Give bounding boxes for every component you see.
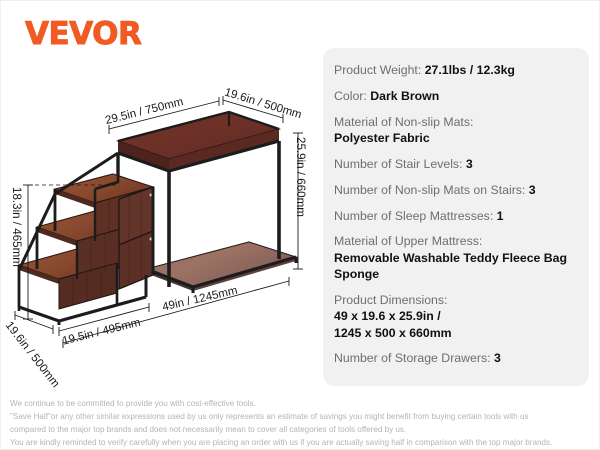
spec-label: Product Weight: — [334, 63, 421, 77]
spec-value: 3 — [494, 351, 501, 365]
spec-label: Number of Stair Levels: — [334, 157, 463, 171]
spec-row-sleep-mattresses: Number of Sleep Mattresses: 1 — [333, 208, 579, 224]
dim-label-right-height: 25.9in / 660mm — [294, 137, 307, 217]
spec-label: Material of Upper Mattress: — [334, 234, 482, 248]
spec-label: Number of Sleep Mattresses: — [334, 209, 493, 223]
footer-line: "Save Half"or any other similar expressi… — [10, 410, 596, 423]
footer-line: You are kindly reminded to verify carefu… — [10, 436, 596, 449]
spec-value: Removable Washable Teddy Fleece Bag Spon… — [334, 250, 579, 283]
spec-label: Number of Non-slip Mats on Stairs: — [334, 183, 525, 197]
spec-label: Material of Non-slip Mats: — [334, 115, 473, 129]
vevor-logo: VEVOR — [25, 19, 141, 50]
spec-value: 27.1lbs / 12.3kg — [425, 63, 515, 77]
drawer-column — [119, 187, 153, 289]
spec-label: Color: — [334, 89, 367, 103]
footer-line: compared to the major top brands and doe… — [10, 423, 596, 436]
product-illustration: 29.5in / 750mm 19.6in / 500mm 25.9in / 6… — [1, 79, 321, 349]
spec-value: 3 — [466, 157, 473, 171]
product-spec-image: VEVOR — [0, 0, 600, 450]
spec-row-product-dimensions: Product Dimensions: 49 x 19.6 x 25.9in /… — [333, 292, 579, 341]
dim-label-left-height: 18.3in / 465mm — [10, 187, 23, 267]
footer-disclaimer: We continue to be committed to provide y… — [10, 397, 596, 449]
spec-value: 3 — [529, 183, 536, 197]
footer-line: We continue to be committed to provide y… — [10, 397, 596, 410]
spec-value: Dark Brown — [370, 89, 439, 103]
spec-row-storage-drawers: Number of Storage Drawers: 3 — [333, 350, 579, 366]
spec-row-material-upper-mattress: Material of Upper Mattress: Removable Wa… — [333, 233, 579, 282]
spec-row-non-slip-mats-on-stairs: Number of Non-slip Mats on Stairs: 3 — [333, 182, 579, 198]
spec-value: Polyester Fabric — [334, 130, 579, 146]
product-drawing — [1, 79, 321, 349]
spec-row-product-weight: Product Weight: 27.1lbs / 12.3kg — [333, 62, 579, 78]
spec-row-material-non-slip-mats: Material of Non-slip Mats: Polyester Fab… — [333, 114, 579, 147]
spec-label: Product Dimensions: — [334, 293, 447, 307]
spec-value: 49 x 19.6 x 25.9in / 1245 x 500 x 660mm — [334, 308, 579, 341]
spec-value: 1 — [497, 209, 504, 223]
spec-row-color: Color: Dark Brown — [333, 88, 579, 104]
spec-row-stair-levels: Number of Stair Levels: 3 — [333, 156, 579, 172]
specifications-panel: Product Weight: 27.1lbs / 12.3kg Color: … — [323, 48, 589, 386]
spec-label: Number of Storage Drawers: — [334, 351, 491, 365]
